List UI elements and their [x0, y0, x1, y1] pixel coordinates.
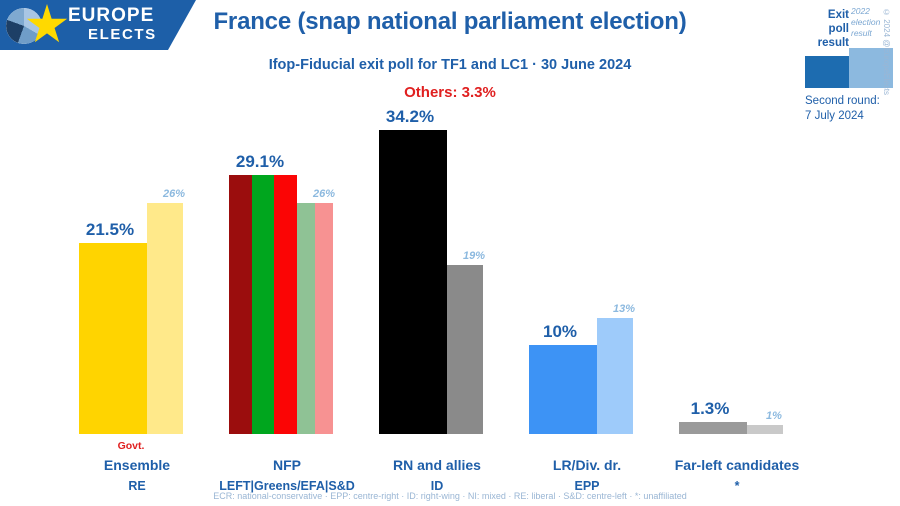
bar-segment: [315, 203, 333, 434]
bar-segment: [274, 175, 297, 434]
bar-group: 21.5%26%Govt.EnsembleRE: [62, 0, 212, 506]
bar-value-previous: 1%: [747, 410, 801, 422]
bar-pair: 34.2%19%: [362, 104, 512, 434]
bar-value-previous: 26%: [297, 188, 351, 200]
bar-value-previous: 13%: [597, 303, 651, 315]
bar-segment: [252, 175, 275, 434]
bar-segment: [747, 425, 783, 434]
bar-segment: [379, 130, 447, 434]
bar-value-current: 34.2%: [362, 107, 458, 127]
bar-current-lr-div-dr[interactable]: [529, 345, 597, 434]
status-badge: Govt.: [79, 440, 183, 452]
bar-chart: 21.5%26%Govt.EnsembleRE29.1%26%NFPLEFT|G…: [0, 0, 900, 506]
bar-segment: [229, 175, 252, 434]
bar-pair: 21.5%26%: [62, 104, 212, 434]
bar-previous-rn-and-allies[interactable]: [447, 265, 483, 434]
bar-value-previous: 26%: [147, 188, 201, 200]
bar-value-current: 21.5%: [62, 220, 158, 240]
bar-group: 10%13%LR/Div. dr.EPP: [512, 0, 662, 506]
bar-pair: 10%13%: [512, 104, 662, 434]
bar-current-rn-and-allies[interactable]: [379, 130, 447, 434]
footnote: ECR: national-conservative · EPP: centre…: [0, 491, 900, 501]
bar-group: 34.2%19%RN and alliesID: [362, 0, 512, 506]
bar-group: 1.3%1%Far-left candidates*: [662, 0, 812, 506]
bar-pair: 29.1%26%: [212, 104, 362, 434]
bar-group: 29.1%26%NFPLEFT|Greens/EFA|S&D: [212, 0, 362, 506]
bar-current-nfp[interactable]: [229, 175, 297, 434]
bar-pair: 1.3%1%: [662, 104, 812, 434]
bar-current-ensemble[interactable]: [79, 243, 147, 434]
bar-segment: [297, 203, 315, 434]
category-label: Far-left candidates: [648, 457, 826, 473]
bar-value-current: 1.3%: [662, 399, 758, 419]
bar-segment: [447, 265, 483, 434]
bar-value-current: 29.1%: [212, 152, 308, 172]
bar-segment: [529, 345, 597, 434]
bar-segment: [79, 243, 147, 434]
bar-value-previous: 19%: [447, 250, 501, 262]
bar-previous-far-left-candidates[interactable]: [747, 425, 783, 434]
bar-current-far-left-candidates[interactable]: [679, 422, 747, 434]
bar-segment: [679, 422, 747, 434]
bar-previous-nfp[interactable]: [297, 203, 333, 434]
bar-value-current: 10%: [512, 322, 608, 342]
